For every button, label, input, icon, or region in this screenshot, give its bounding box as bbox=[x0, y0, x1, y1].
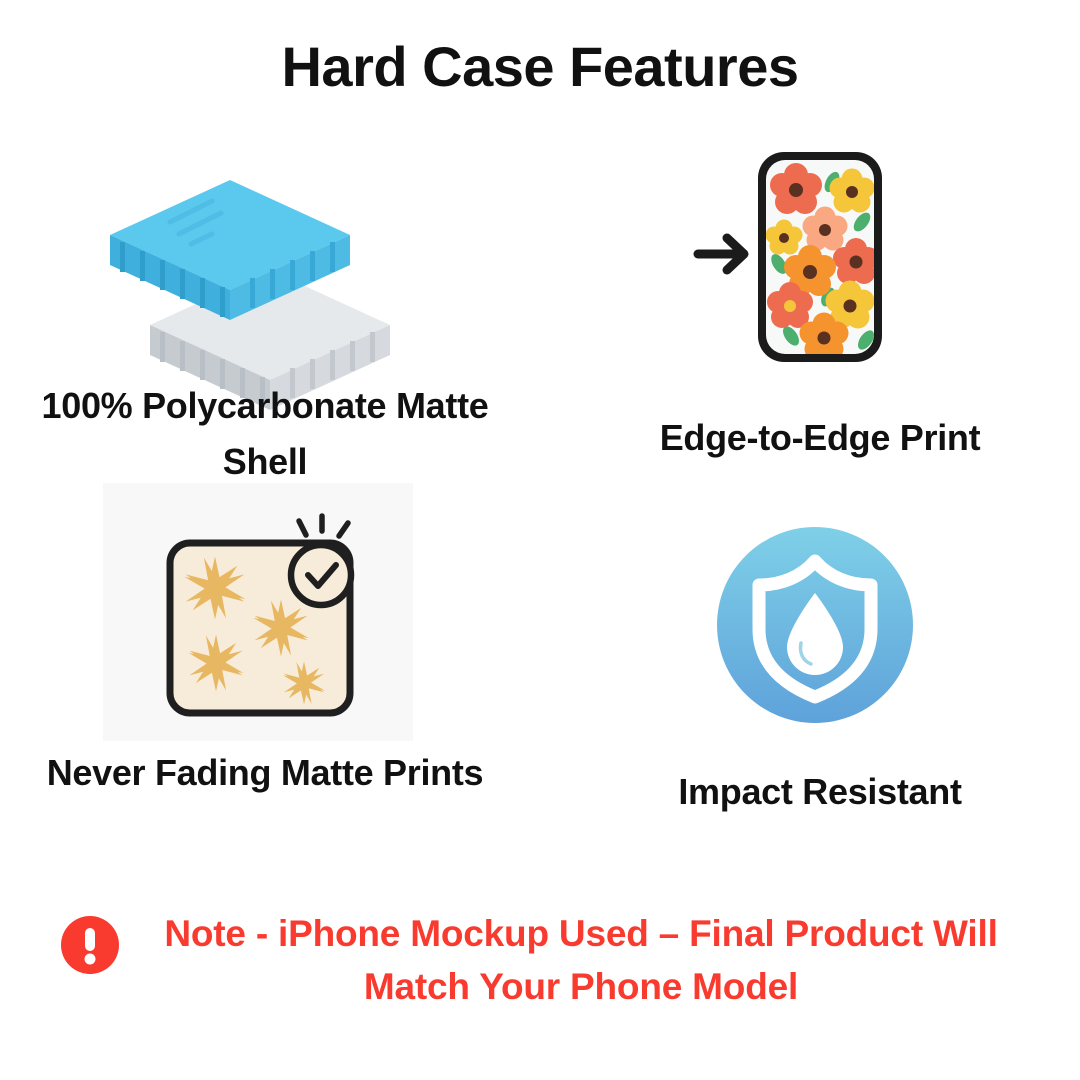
shield-droplet-icon bbox=[715, 525, 915, 725]
feature-label-polycarbonate-shell: 100% Polycarbonate Matte Shell bbox=[35, 378, 495, 490]
exclamation-circle-icon bbox=[59, 914, 121, 976]
note-text: Note - iPhone Mockup Used – Final Produc… bbox=[141, 908, 1021, 1013]
arrow-right-icon bbox=[698, 238, 744, 270]
note-banner: Note - iPhone Mockup Used – Final Produc… bbox=[0, 908, 1080, 1013]
layered-slabs-icon bbox=[40, 160, 500, 370]
feature-infographic: Hard Case Features bbox=[0, 0, 1080, 1080]
feature-icon-never-fading-prints bbox=[103, 483, 413, 741]
feature-label-edge-to-edge-print: Edge-to-Edge Print bbox=[600, 410, 1040, 466]
feature-label-never-fading-prints: Never Fading Matte Prints bbox=[35, 745, 495, 801]
check-circle-badge-icon bbox=[291, 516, 351, 605]
feature-label-impact-resistant: Impact Resistant bbox=[620, 764, 1020, 820]
floral-phone-case-icon bbox=[680, 140, 910, 380]
feature-icon-polycarbonate-shell bbox=[40, 160, 500, 370]
feature-icon-impact-resistant bbox=[715, 525, 915, 725]
sparkle-card-check-icon bbox=[103, 483, 413, 741]
page-title: Hard Case Features bbox=[0, 34, 1080, 99]
feature-icon-edge-to-edge-print bbox=[680, 140, 910, 380]
